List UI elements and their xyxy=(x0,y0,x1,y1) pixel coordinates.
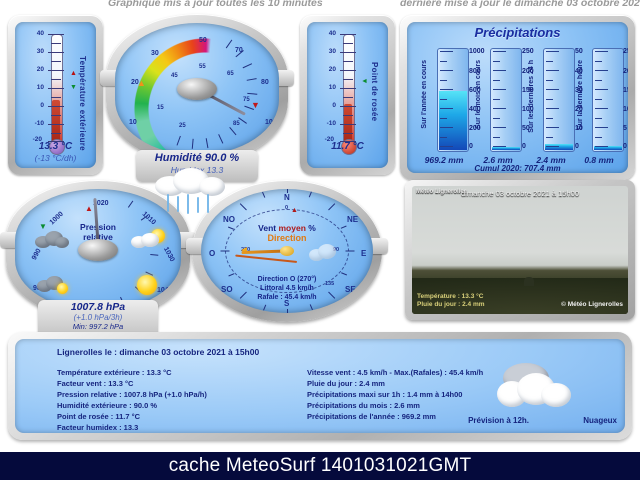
last-update-note: dernière mise à jour le dimanche 03 octo… xyxy=(400,0,640,9)
graph-update-note: Graphique mis à jour toutes les 10 minut… xyxy=(108,0,323,9)
webcam-image: Météo Lignerolles dimanche 03 octobre 20… xyxy=(412,186,628,314)
status-bar: cache MeteoSurf 1401031021GMT xyxy=(0,452,640,480)
precip-24h-tick-50: 50 xyxy=(575,48,583,55)
summary-row-dewpoint: Point de rosée : 11.7 °C xyxy=(57,411,207,422)
wind-compass-panel: N NE E SE S SO O NO 0 90 135 270 Vent mo… xyxy=(192,180,382,322)
dewpoint-value: 11.7 °C xyxy=(307,141,388,152)
precip-hour-tick-20: 20 xyxy=(623,68,628,75)
hygro-inner-75: 75 xyxy=(243,97,250,103)
precip-gauge-hour-label: Sur la dernière heure xyxy=(577,60,584,130)
hygro-inner-45: 45 xyxy=(171,73,178,79)
precip-gauge-year-label: Sur l'année en cours xyxy=(421,60,428,129)
hygro-min-marker-icon: ▲ xyxy=(137,79,146,88)
hygro-inner-15: 15 xyxy=(157,105,164,111)
dew-tick-40: 40 xyxy=(316,30,336,37)
webcam-tree-silhouette xyxy=(524,277,534,286)
summary-row-humidity: Humidité extérieure : 90.0 % xyxy=(57,400,207,411)
precipitation-panel: Précipitations Sur l'année en cours 1000… xyxy=(400,15,635,180)
rain-sun-icon xyxy=(37,275,67,293)
summary-row-rain-month: Précipitations du mois : 2.6 mm xyxy=(307,400,483,411)
wind-hub xyxy=(280,246,294,256)
temp-tick-m10: -10 xyxy=(24,120,44,127)
baro-marker2-icon: ▼ xyxy=(39,223,47,231)
temp-tick-20: 20 xyxy=(24,66,44,73)
precip-24h-tick-0: 0 xyxy=(575,143,579,150)
precip-gauge-month xyxy=(490,48,522,152)
cloudy-icon xyxy=(497,361,575,413)
hygro-tick-10: 10 xyxy=(129,119,137,126)
heavy-rain-icon xyxy=(35,229,69,249)
summary-heading: Lignerolles le : dimanche 03 octobre 202… xyxy=(57,347,259,357)
hygro-tick-70: 70 xyxy=(235,47,243,54)
wind-title: Vent moyen % xyxy=(201,223,373,233)
precip-gauge-month-label: Sur le mois en cours xyxy=(475,60,482,129)
webcam-timestamp: dimanche 03 octobre 2021 à 15h00 xyxy=(412,189,628,198)
webcam-temperature-overlay: Température : 13.3 °C xyxy=(417,293,483,300)
summary-right-column: Vitesse vent : 4.5 km/h - Max.(Rafales) … xyxy=(307,367,483,422)
forecast-label: Prévision à 12h. xyxy=(468,416,529,425)
temperature-gauge-face: 40 30 20 10 0 -10 -20 ▲ ▼ Température ex… xyxy=(15,22,96,168)
baro-tick-1040: 1040 xyxy=(157,287,173,294)
dewpoint-ticks xyxy=(346,34,350,142)
hygro-tick-100: 100 xyxy=(265,119,277,126)
sun-icon xyxy=(137,275,157,295)
status-bar-text: cache MeteoSurf 1401031021GMT xyxy=(169,455,472,477)
summary-row-windchill: Facteur vent : 13.3 °C xyxy=(57,378,207,389)
precip-year-tick-0: 0 xyxy=(469,143,473,150)
cloud-sun-icon xyxy=(131,229,165,249)
precip-gauge-hour xyxy=(592,48,624,152)
hygrometer-hub xyxy=(177,78,217,100)
precip-month-tick-0: 0 xyxy=(522,143,526,150)
hygro-max-marker-icon: ▼ xyxy=(251,101,260,110)
barometer-panel: 980 990 1000 1020 1010 1030 1040 Pressio… xyxy=(6,180,190,320)
barometer-face: 980 990 1000 1020 1010 1030 1040 Pressio… xyxy=(15,189,181,311)
hygrometer-panel: 10 20 30 50 70 80 100 15 45 55 65 25 85 … xyxy=(106,14,288,164)
dewpoint-gauge-face: 40 30 20 10 0 -10 -20 ◄ Point de rosée 1… xyxy=(307,22,388,168)
dewpoint-marker-icon: ◄ xyxy=(361,78,368,85)
temperature-gauge-panel: 40 30 20 10 0 -10 -20 ▲ ▼ Température ex… xyxy=(8,15,103,175)
dewpoint-gauge-panel: 40 30 20 10 0 -10 -20 ◄ Point de rosée 1… xyxy=(300,15,395,175)
dew-tick-m10: -10 xyxy=(316,120,336,127)
dewpoint-gauge-label: Point de rosée xyxy=(370,62,379,121)
dew-tick-30: 30 xyxy=(316,48,336,55)
precip-hour-tick-15: 15 xyxy=(623,87,628,94)
summary-row-temp: Température extérieure : 13.3 °C xyxy=(57,367,207,378)
barometer-trend: (+1.0 hPa/3h) xyxy=(38,313,158,322)
dew-tick-0: 0 xyxy=(316,102,336,109)
webcam-copyright: © Météo Lignerolles xyxy=(561,301,623,308)
summary-row-rain-max1h: Précipitations maxi sur 1h : 1.4 mm à 14… xyxy=(307,389,483,400)
temperature-gauge-label: Température extérieure xyxy=(78,56,87,151)
hygro-inner-85: 85 xyxy=(233,121,240,127)
wind-cloud-icon xyxy=(309,241,339,263)
barometer-value: 1007.8 hPa xyxy=(38,301,158,313)
hygrometer-label: Humidité xyxy=(155,152,202,164)
wind-mean-line: Littoral 4.5 km/h xyxy=(201,284,373,293)
hygro-inner-55: 55 xyxy=(199,64,206,70)
thermometer-ticks xyxy=(54,34,58,142)
precip-gauge-year-ticks xyxy=(440,51,466,149)
temp-tick-10: 10 xyxy=(24,84,44,91)
precip-gauge-month-ticks xyxy=(493,51,519,149)
summary-row-rain-today: Pluie du jour : 2.4 mm xyxy=(307,378,483,389)
precip-year-tick-1000: 1000 xyxy=(469,48,485,55)
precip-gauge-24h-ticks xyxy=(546,51,572,149)
precip-month-tick-250: 250 xyxy=(522,48,534,55)
precip-hour-tick-5: 5 xyxy=(623,125,627,132)
weather-dashboard: Graphique mis à jour toutes les 10 minut… xyxy=(0,0,640,480)
wind-direction-line: Direction O (270°) xyxy=(201,275,373,284)
precipitation-title: Précipitations xyxy=(407,25,628,40)
hygrometer-face: 10 20 30 50 70 80 100 15 45 55 65 25 85 … xyxy=(115,23,279,155)
barometer-min: Min: 997.2 hPa xyxy=(38,322,158,331)
summary-row-humidex: Facteur humidex : 13.3 xyxy=(57,422,207,433)
wind-gust-marker-icon: ▲ xyxy=(291,207,298,214)
wind-compass-face: N NE E SE S SO O NO 0 90 135 270 Vent mo… xyxy=(201,189,373,313)
hygrometer-value: 90.0 xyxy=(205,152,226,164)
temp-max-marker-icon: ▲ xyxy=(70,70,77,77)
temperature-value: 13.3 °C xyxy=(15,141,96,152)
precip-hour-tick-25: 25 xyxy=(623,48,628,55)
summary-row-wind: Vitesse vent : 4.5 km/h - Max.(Rafales) … xyxy=(307,367,483,378)
webcam-panel[interactable]: Météo Lignerolles dimanche 03 octobre 20… xyxy=(405,180,635,320)
summary-left-column: Température extérieure : 13.3 °C Facteur… xyxy=(57,367,207,433)
hygrometer-unit: % xyxy=(229,152,239,164)
wind-deg-0: 0 xyxy=(285,205,288,211)
temp-tick-40: 40 xyxy=(24,30,44,37)
precip-gauge-hour-ticks xyxy=(595,51,621,149)
barometer-hub xyxy=(78,239,118,261)
temp-min-marker-icon: ▼ xyxy=(70,84,77,91)
hygro-tick-80: 80 xyxy=(261,79,269,86)
precip-gauge-year xyxy=(437,48,469,152)
wind-max-line: Rafale : 45.4 km/h xyxy=(201,293,373,302)
baro-marker-icon: ▲ xyxy=(85,205,93,213)
dew-tick-10: 10 xyxy=(316,84,336,91)
hygro-inner-65: 65 xyxy=(227,71,234,77)
summary-row-rain-year: Précipitations de l'année : 969.2 mm xyxy=(307,411,483,422)
temp-tick-30: 30 xyxy=(24,48,44,55)
wind-readout: Direction O (270°) Littoral 4.5 km/h Raf… xyxy=(201,275,373,302)
rain-cloud-decoration-icon xyxy=(155,166,225,200)
precip-hour-tick-10: 10 xyxy=(623,106,628,113)
temperature-trend: (-13 °C/dh) xyxy=(15,153,96,163)
hygro-tick-50: 50 xyxy=(199,37,207,44)
precipitation-cumul: Cumul 2020: 707.4 mm xyxy=(407,164,628,173)
precip-gauge-24h xyxy=(543,48,575,152)
wind-subtitle: Direction xyxy=(201,233,373,243)
precip-hour-tick-0: 0 xyxy=(623,143,627,150)
hygro-inner-25: 25 xyxy=(179,123,186,129)
precip-gauge-24h-label: Sur les dernières 24 h xyxy=(528,60,535,133)
hygro-tick-30: 30 xyxy=(151,50,159,57)
forecast-value: Nuageux xyxy=(583,416,617,425)
summary-face: Lignerolles le : dimanche 03 octobre 202… xyxy=(15,339,625,433)
wind-cardinal-e: E xyxy=(361,249,366,258)
dew-tick-20: 20 xyxy=(316,66,336,73)
webcam-rain-overlay: Pluie du jour : 2.4 mm xyxy=(417,301,485,308)
summary-panel: Lignerolles le : dimanche 03 octobre 202… xyxy=(8,332,632,440)
wind-cardinal-o: O xyxy=(209,249,215,258)
summary-row-pressure: Pression relative : 1007.8 hPa (+1.0 hPa… xyxy=(57,389,207,400)
precipitation-face: Précipitations Sur l'année en cours 1000… xyxy=(407,22,628,173)
temp-tick-0: 0 xyxy=(24,102,44,109)
wind-cardinal-n: N xyxy=(284,193,290,202)
